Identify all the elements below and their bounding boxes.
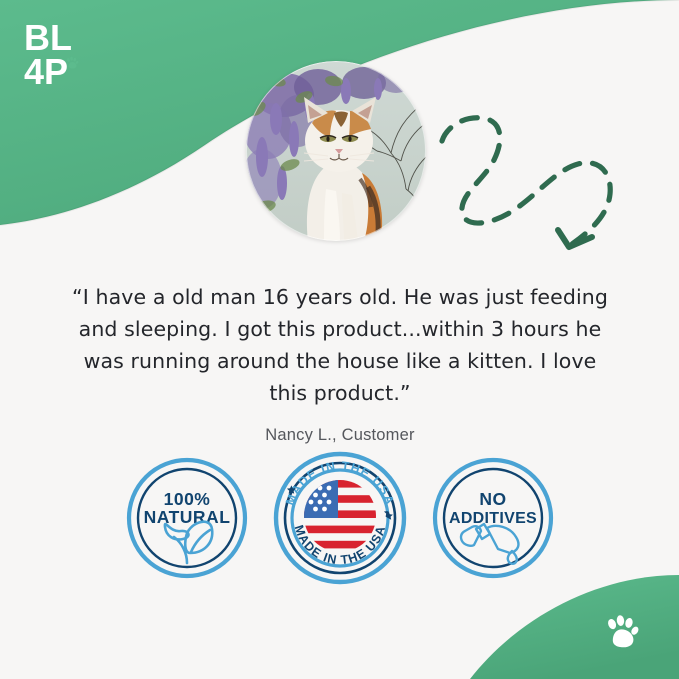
testimonial-attribution: Nancy L., Customer (62, 426, 618, 445)
usa-flag-icon (304, 480, 376, 552)
badge-line1: 100% (163, 489, 210, 509)
badge-100-natural: 100% NATURAL (126, 457, 248, 579)
dropper-icon (461, 524, 518, 564)
badge-line1: NO (479, 489, 506, 509)
logo-line2: 4P (24, 51, 68, 92)
bottom-right-green-shape (470, 575, 679, 679)
testimonial-quote: “I have a old man 16 years old. He was j… (62, 281, 618, 409)
trust-badges: 100% NATURAL (0, 448, 679, 588)
decorative-arrow-icon (432, 108, 624, 268)
cat-photo-illustration (246, 61, 426, 241)
badge-line2: NATURAL (143, 507, 230, 527)
testimonial-block: “I have a old man 16 years old. He was j… (62, 281, 618, 445)
brand-logo[interactable]: BL 4P (22, 18, 96, 94)
badge-no-additives: NO ADDITIVES (432, 457, 554, 579)
badge-made-in-usa: MADE IN THE USA MADE IN THE USA (272, 450, 408, 586)
corner-paw-icon (600, 612, 642, 654)
testimonial-card: BL 4P (0, 0, 679, 679)
logo-paw-icon (66, 57, 78, 69)
leaf-icon (164, 522, 211, 563)
customer-pet-photo (246, 61, 426, 241)
badge-line2: ADDITIVES (448, 510, 536, 527)
